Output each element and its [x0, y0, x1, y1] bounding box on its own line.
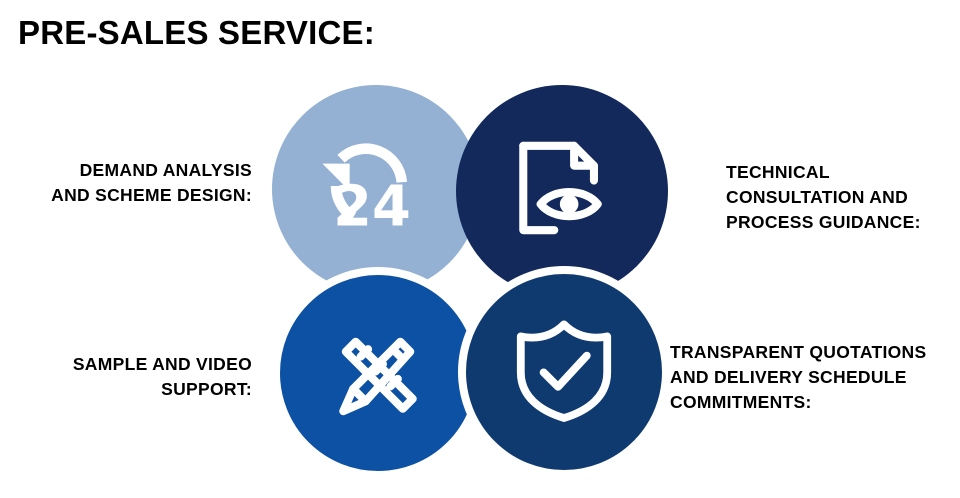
pre-sales-service-infographic: PRE-SALES SERVICE: 24 — [0, 0, 960, 498]
label-technical-consultation: TECHNICAL CONSULTATION AND PROCESS GUIDA… — [726, 160, 956, 235]
segment-circle-sample[interactable] — [272, 267, 484, 479]
segment-circle-transparent[interactable] — [458, 266, 670, 478]
circle-cluster: 24 — [268, 82, 672, 482]
label-transparent-quotations: TRANSPARENT QUOTATIONS AND DELIVERY SCHE… — [670, 340, 960, 415]
label-sample-video-support: SAMPLE AND VIDEO SUPPORT: — [0, 352, 252, 402]
page-title: PRE-SALES SERVICE: — [18, 13, 375, 53]
segment-circle-demand[interactable] — [272, 85, 480, 293]
label-demand-analysis: DEMAND ANALYSIS AND SCHEME DESIGN: — [0, 158, 252, 208]
